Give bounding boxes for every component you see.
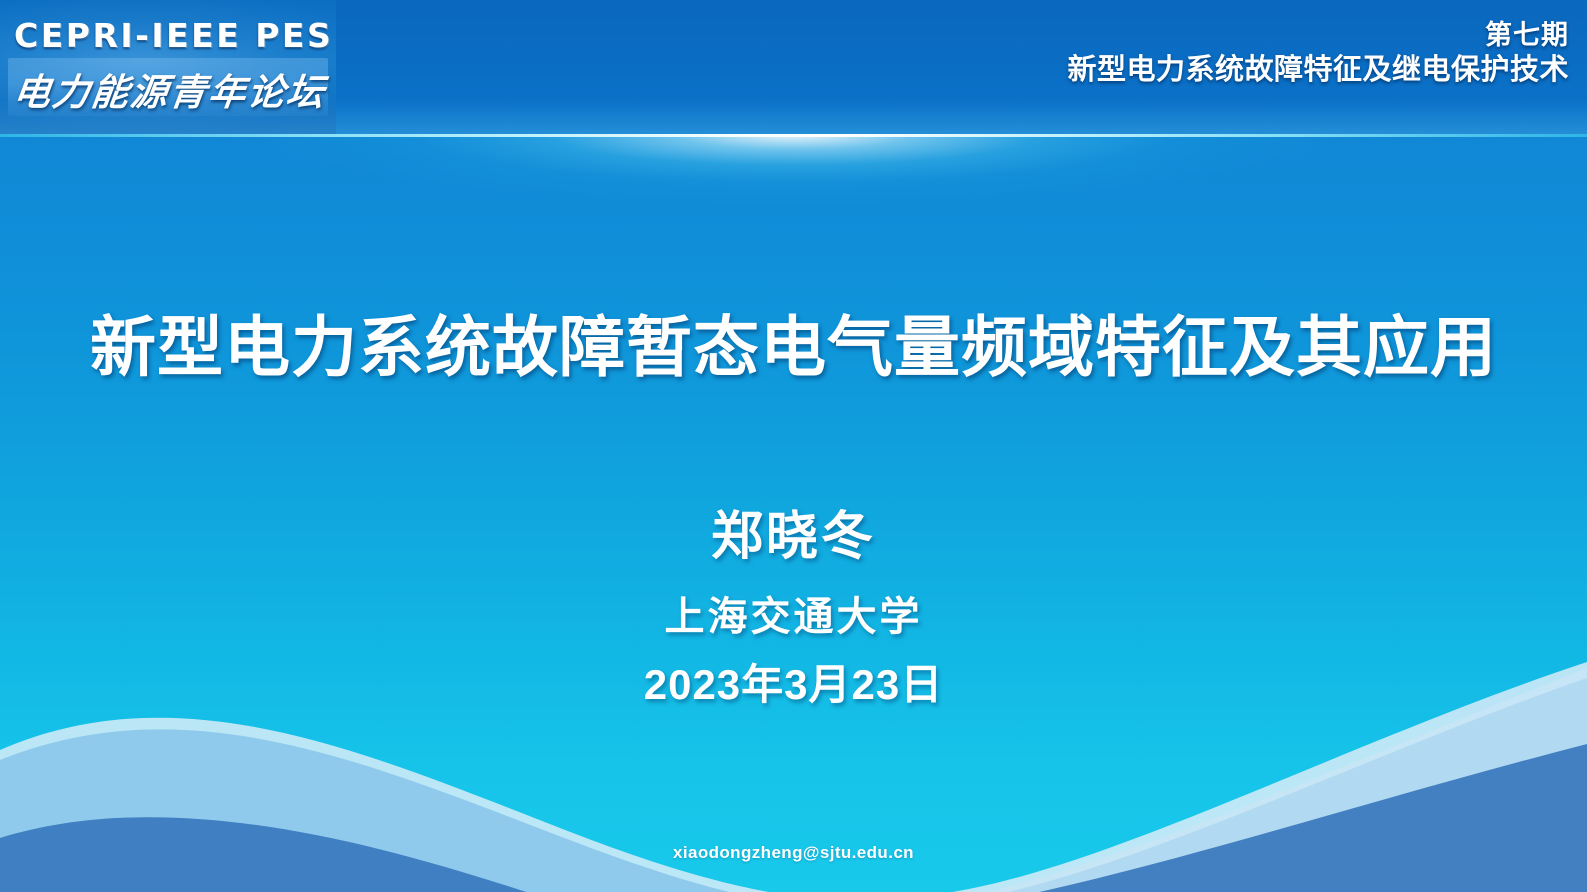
logo-title-cn: 电力能源青年论坛 bbox=[11, 62, 330, 116]
title-slide: CEPRI-IEEE PES 电力能源青年论坛 第七期 新型电力系统故障特征及继… bbox=[0, 0, 1587, 892]
header-glow bbox=[244, 134, 1344, 254]
presenter-block: 郑晓冬 上海交通大学 2023年3月23日 bbox=[0, 505, 1587, 715]
series-title: 新型电力系统故障特征及继电保护技术 bbox=[1067, 52, 1569, 88]
presenter-name: 郑晓冬 bbox=[0, 505, 1587, 570]
presenter-affiliation: 上海交通大学 bbox=[0, 586, 1587, 648]
contact-email: xiaodongzheng@sjtu.edu.cn bbox=[0, 843, 1587, 863]
wave-dark bbox=[0, 744, 1587, 892]
header-right-text: 第七期 新型电力系统故障特征及继电保护技术 bbox=[1067, 20, 1569, 88]
slide-header: CEPRI-IEEE PES 电力能源青年论坛 第七期 新型电力系统故障特征及继… bbox=[0, 0, 1587, 134]
issue-number: 第七期 bbox=[1067, 20, 1569, 52]
presentation-date: 2023年3月23日 bbox=[0, 656, 1587, 715]
logo-panel: CEPRI-IEEE PES 电力能源青年论坛 bbox=[0, 0, 336, 134]
presentation-title: 新型电力系统故障暂态电气量频域特征及其应用 bbox=[0, 294, 1587, 390]
logo-title-en: CEPRI-IEEE PES bbox=[14, 16, 324, 55]
